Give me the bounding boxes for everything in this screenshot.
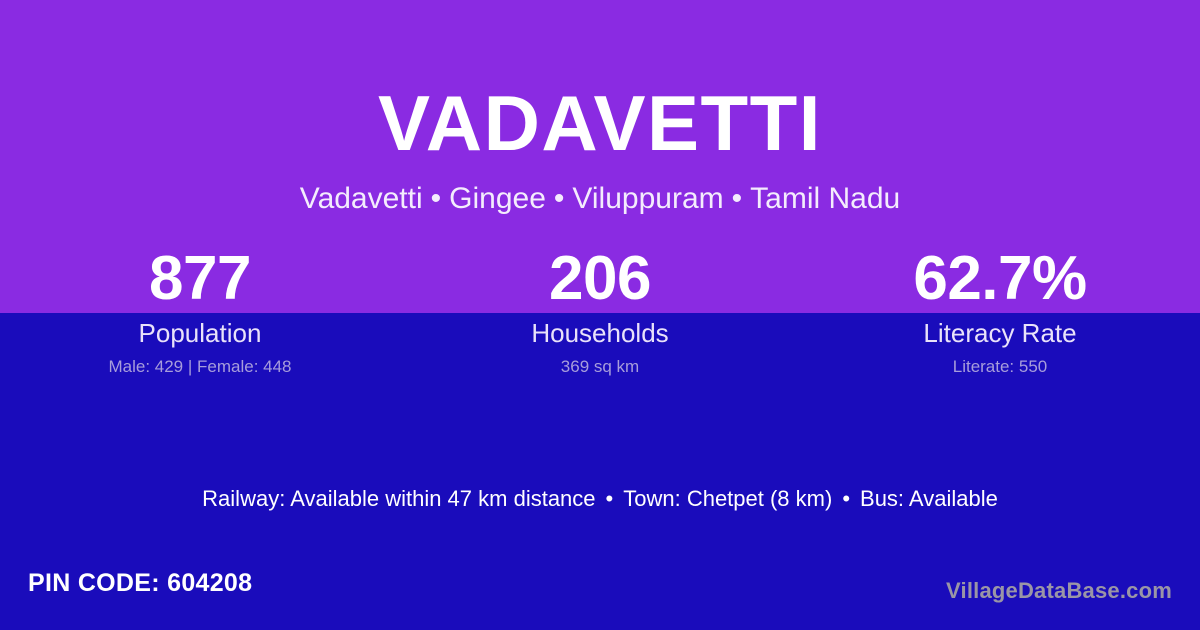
stat-sublabel: Male: 429 | Female: 448: [0, 357, 400, 377]
breadcrumb-separator: •: [546, 184, 573, 214]
village-info-card: VADAVETTI Vadavetti•Gingee•Viluppuram•Ta…: [0, 0, 1200, 630]
infrastructure-separator: •: [596, 485, 624, 513]
pin-code-label: PIN CODE: 604208: [28, 568, 252, 598]
stat-label: Population: [0, 318, 400, 348]
infrastructure-summary: Railway: Available within 47 km distance…: [0, 485, 1200, 513]
breadcrumb: Vadavetti•Gingee•Viluppuram•Tamil Nadu: [0, 184, 1200, 214]
stat-value: 877: [0, 248, 400, 310]
card-footer: PIN CODE: 604208 VillageDataBase.com: [0, 550, 1200, 630]
stats-row: 877PopulationMale: 429 | Female: 448206H…: [0, 248, 1200, 377]
breadcrumb-item[interactable]: Tamil Nadu: [750, 182, 900, 215]
breadcrumb-item[interactable]: Viluppuram: [572, 182, 723, 215]
stat-households: 206Households369 sq km: [400, 248, 800, 377]
stat-value: 206: [400, 248, 800, 310]
infrastructure-item: Town: Chetpet (8 km): [623, 486, 832, 511]
page-title: VADAVETTI: [0, 84, 1200, 162]
infrastructure-separator: •: [832, 485, 860, 513]
infrastructure-item: Railway: Available within 47 km distance: [202, 486, 595, 511]
stat-label: Households: [400, 318, 800, 348]
card-header: VADAVETTI Vadavetti•Gingee•Viluppuram•Ta…: [0, 0, 1200, 214]
stat-sublabel: Literate: 550: [800, 357, 1200, 377]
brand-watermark: VillageDataBase.com: [946, 578, 1172, 604]
stat-label: Literacy Rate: [800, 318, 1200, 348]
breadcrumb-item[interactable]: Vadavetti: [300, 182, 423, 215]
stat-population: 877PopulationMale: 429 | Female: 448: [0, 248, 400, 377]
stat-literacy-rate: 62.7%Literacy RateLiterate: 550: [800, 248, 1200, 377]
stat-sublabel: 369 sq km: [400, 357, 800, 377]
breadcrumb-separator: •: [423, 184, 450, 214]
breadcrumb-item[interactable]: Gingee: [449, 182, 546, 215]
stat-value: 62.7%: [800, 248, 1200, 310]
breadcrumb-separator: •: [724, 184, 751, 214]
infrastructure-item: Bus: Available: [860, 486, 998, 511]
